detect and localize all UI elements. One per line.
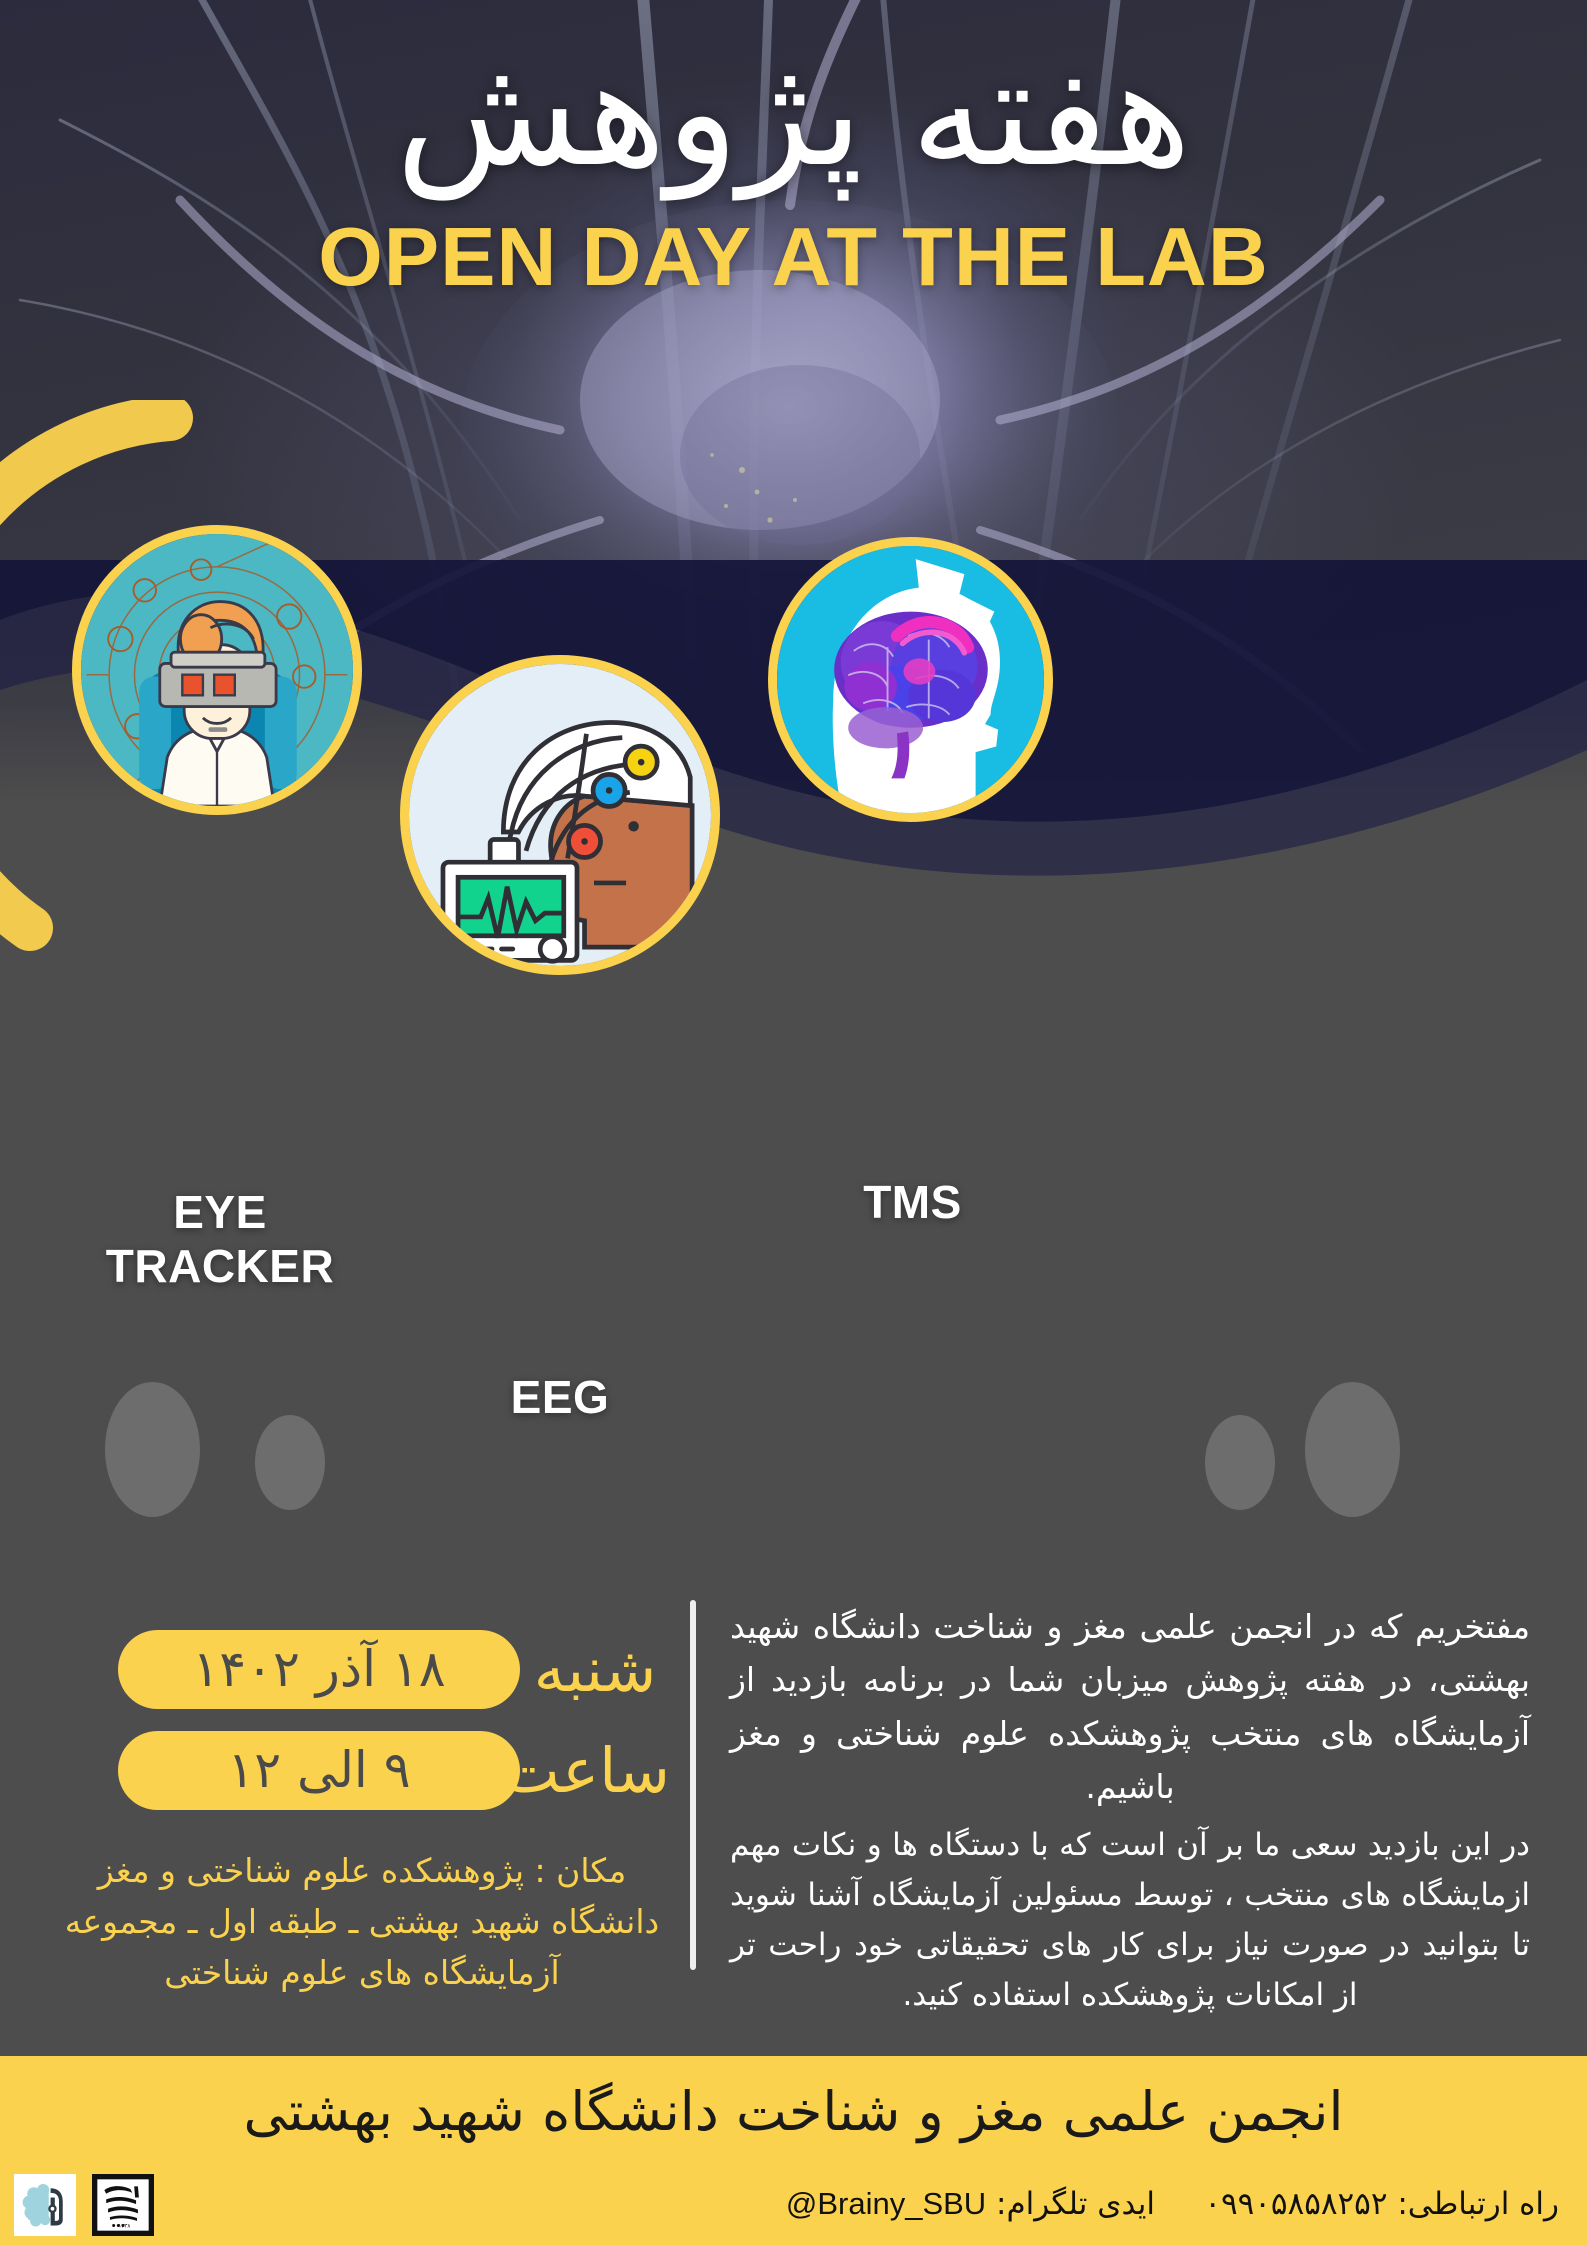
tms-label: TMS	[770, 1175, 1055, 1229]
eye-tracker-circle[interactable]	[72, 525, 362, 815]
schedule-row-day: شنبه ۱۸ آذر ۱۴۰۲	[70, 1630, 670, 1709]
svg-text:١٣٣٨: ١٣٣٨	[118, 2223, 130, 2229]
brain-logo-glyph	[17, 2177, 73, 2233]
day-value-pill: ۱۸ آذر ۱۴۰۲	[118, 1630, 520, 1709]
decorative-blob-2	[255, 1415, 325, 1510]
page-title-farsi: هفته پژوهش	[0, 22, 1587, 205]
tms-icon	[777, 546, 1044, 813]
body-paragraph-1: مفتخریم که در انجمن علمی مغز و شناخت دان…	[730, 1600, 1530, 1814]
time-value-pill: ۹ الی ۱۲	[118, 1731, 520, 1810]
poster-root: هفته پژوهش OPEN DAY AT THE LAB	[0, 0, 1587, 2245]
telegram-handle[interactable]: @Brainy_SBU	[786, 2186, 986, 2222]
body-paragraph-2: در این بازدید سعی ما بر آن است که با دست…	[730, 1820, 1530, 2021]
contact-phone: ۰۹۹۰۵۸۵۸۲۵۲	[1204, 2186, 1387, 2222]
association-banner: انجمن علمی مغز و شناخت دانشگاه شهید بهشت…	[0, 2056, 1587, 2166]
eye-tracker-label: EYE TRACKER	[60, 1185, 380, 1293]
info-divider	[690, 1600, 696, 1970]
sbu-logo-glyph: ١٣٣٨	[95, 2177, 151, 2233]
contact-info: راه ارتباطی: ۰۹۹۰۵۸۵۸۲۵۲ ایدی تلگرام: @B…	[786, 2186, 1559, 2222]
association-name: انجمن علمی مغز و شناخت دانشگاه شهید بهشت…	[244, 2080, 1344, 2143]
venue-text: مکان : پژوهشکده علوم شناختی و مغز دانشگا…	[62, 1845, 662, 1998]
telegram-label: ایدی تلگرام:	[996, 2186, 1155, 2222]
decorative-blob-3	[1205, 1415, 1275, 1510]
schedule-block: شنبه ۱۸ آذر ۱۴۰۲ ساعت ۹ الی ۱۲	[70, 1630, 670, 1832]
contact-label: راه ارتباطی:	[1397, 2186, 1559, 2222]
eeg-label: EEG	[400, 1370, 720, 1424]
eeg-icon	[409, 664, 711, 966]
time-label: ساعت	[520, 1740, 670, 1802]
footer-logos: ١٣٣٨	[14, 2174, 154, 2236]
tms-circle[interactable]	[768, 537, 1053, 822]
eye-tracker-icon	[81, 534, 353, 806]
eeg-circle[interactable]	[400, 655, 720, 975]
body-description: مفتخریم که در انجمن علمی مغز و شناخت دان…	[730, 1600, 1530, 2021]
sbu-university-logo: ١٣٣٨	[92, 2174, 154, 2236]
decorative-blob-1	[105, 1382, 200, 1517]
brainy-association-logo	[14, 2174, 76, 2236]
day-label: شنبه	[520, 1639, 670, 1701]
schedule-row-time: ساعت ۹ الی ۱۲	[70, 1731, 670, 1810]
page-title-english: OPEN DAY AT THE LAB	[0, 215, 1587, 298]
decorative-blob-4	[1305, 1382, 1400, 1517]
